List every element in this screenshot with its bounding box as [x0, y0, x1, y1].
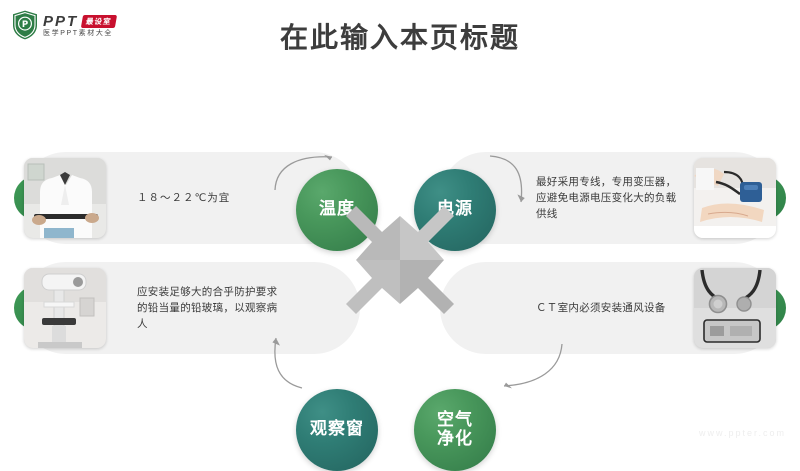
curved-arrow-up-icon	[268, 390, 308, 470]
curved-arrow-down-left-icon	[484, 390, 564, 440]
site-watermark: www.ppter.com	[699, 428, 786, 438]
four-way-arrow-cross-icon	[336, 196, 464, 324]
slide-root: P PPT 最设室 医学PPT素材大全 在此输入本页标题	[0, 0, 800, 450]
description-power-supply: 最好采用专线，专用变压器，应避免电源电压变化大的负载供线	[536, 152, 686, 244]
description-temperature: １８～２２℃为宜	[137, 152, 287, 244]
description-air-purification: ＣＴ室内必须安装通风设备	[536, 262, 686, 354]
circle-label-line1: 空气	[437, 410, 473, 430]
description-observation-window: 应安装足够大的合乎防护要求的铅当量的铅玻璃，以观察病人	[137, 262, 287, 354]
mammography-machine-photo	[24, 268, 106, 348]
blood-pressure-measurement-photo	[694, 158, 776, 238]
circle-label-line2: 净化	[437, 429, 473, 449]
curved-arrow-right-icon	[272, 152, 352, 192]
curved-arrow-down-icon	[488, 152, 528, 232]
circle-label-air-purification: 空气 净化	[437, 411, 473, 449]
page-title: 在此输入本页标题	[0, 16, 800, 56]
circle-observation-window[interactable]: 观察窗	[296, 389, 378, 471]
diagram-container: １８～２２℃为宜 温度 电源 最好采	[0, 140, 800, 380]
doctor-with-tablet-photo	[24, 158, 106, 238]
circle-label-observation-window: 观察窗	[310, 420, 364, 439]
stethoscope-equipment-photo	[694, 268, 776, 348]
